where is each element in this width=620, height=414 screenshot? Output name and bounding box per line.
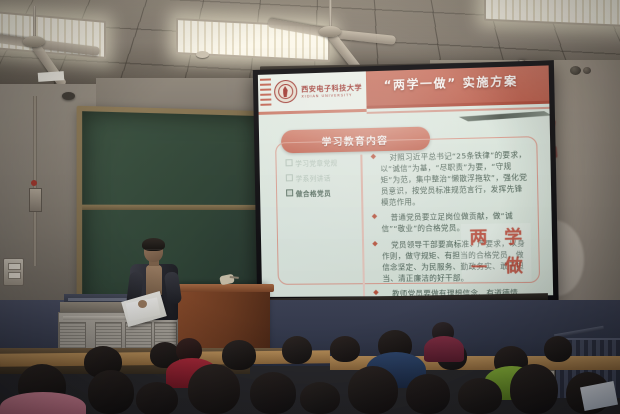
papers-on-desk — [38, 71, 65, 82]
handout-paper — [580, 381, 618, 411]
audience-head — [544, 336, 572, 362]
slide-sidebar-list: 学习党章党规 学系列讲话 做合格党员 — [285, 157, 355, 204]
slide-header: 西安电子科技大学 XIDIAN UNIVERSITY “两学一做” 实施方案 — [258, 65, 550, 111]
audience-shoulders — [0, 392, 86, 414]
audience-head — [222, 340, 256, 370]
sidebar-item-label: 学习党章党规 — [295, 157, 338, 168]
slide-watermark-seal: 两 学 一 做 — [461, 223, 532, 281]
motion-sensor-icon — [62, 92, 75, 100]
university-name-en: XIDIAN UNIVERSITY — [301, 92, 362, 98]
presenter-hand — [138, 300, 147, 308]
university-seal-icon — [274, 80, 298, 104]
watermark-char: 做 — [505, 258, 523, 276]
audience-head — [136, 382, 178, 414]
fan-hub — [23, 36, 45, 47]
eyeglasses-icon — [145, 249, 162, 254]
audience-head — [330, 336, 360, 362]
lectern-top — [174, 284, 274, 292]
audience-head — [510, 364, 558, 414]
watermark-char: 学 — [504, 229, 522, 247]
audience-head — [348, 366, 398, 414]
checkbox-square-icon — [286, 174, 293, 181]
audience-head — [250, 372, 296, 414]
brush-stroke-decor — [459, 111, 552, 122]
bullet-text: 对照习近平总书记“25条铁律”的要求，以“诚信”为基，“尽职责”为要，“守规矩”… — [380, 149, 530, 209]
diamond-bullet-icon: ◆ — [372, 240, 378, 284]
projection-screen: 西安电子科技大学 XIDIAN UNIVERSITY “两学一做” 实施方案 学… — [253, 60, 559, 302]
security-camera-icon — [583, 67, 591, 74]
bullet-paragraph: ◆ 对照习近平总书记“25条铁律”的要求，以“诚信”为基，“尽职责”为要，“守规… — [370, 149, 530, 209]
lecture-hall-photo: 安全出口 — [0, 0, 620, 414]
audience-head — [188, 364, 240, 414]
audience-head — [300, 382, 340, 414]
university-logo: 西安电子科技大学 XIDIAN UNIVERSITY — [274, 78, 362, 104]
presentation-slide: 西安电子科技大学 XIDIAN UNIVERSITY “两学一做” 实施方案 学… — [258, 65, 553, 297]
sidebar-item-0[interactable]: 学习党章党规 — [285, 157, 354, 169]
audience-head — [88, 370, 134, 414]
indicator-dot-icon — [31, 180, 37, 186]
watermark-char: 两 — [469, 229, 487, 247]
audience-shoulders — [424, 336, 464, 362]
fan-rod — [33, 6, 36, 40]
audience-head — [282, 336, 312, 364]
university-logo-text: 西安电子科技大学 XIDIAN UNIVERSITY — [301, 82, 362, 98]
audience-head — [458, 378, 502, 414]
light-switch-panel[interactable] — [3, 258, 24, 286]
sidebar-item-1[interactable]: 学系列讲话 — [286, 172, 355, 183]
checkbox-square-icon — [285, 159, 292, 166]
checkbox-square-icon — [286, 189, 293, 196]
diamond-bullet-icon: ◆ — [372, 213, 378, 235]
junction-box — [29, 188, 42, 212]
sidebar-item-2[interactable]: 做合格党员 — [286, 187, 355, 198]
presenter — [128, 240, 184, 320]
sidebar-item-label: 做合格党员 — [296, 188, 332, 199]
diamond-bullet-icon: ◆ — [371, 153, 378, 208]
sidebar-item-label: 学系列讲话 — [295, 172, 330, 183]
smoke-detector-icon — [196, 51, 209, 58]
fan-hub — [319, 26, 341, 37]
header-stripe-decor — [260, 78, 272, 108]
audience-head — [406, 374, 450, 414]
security-camera-icon — [570, 66, 581, 75]
watermark-char: 一 — [471, 259, 487, 275]
